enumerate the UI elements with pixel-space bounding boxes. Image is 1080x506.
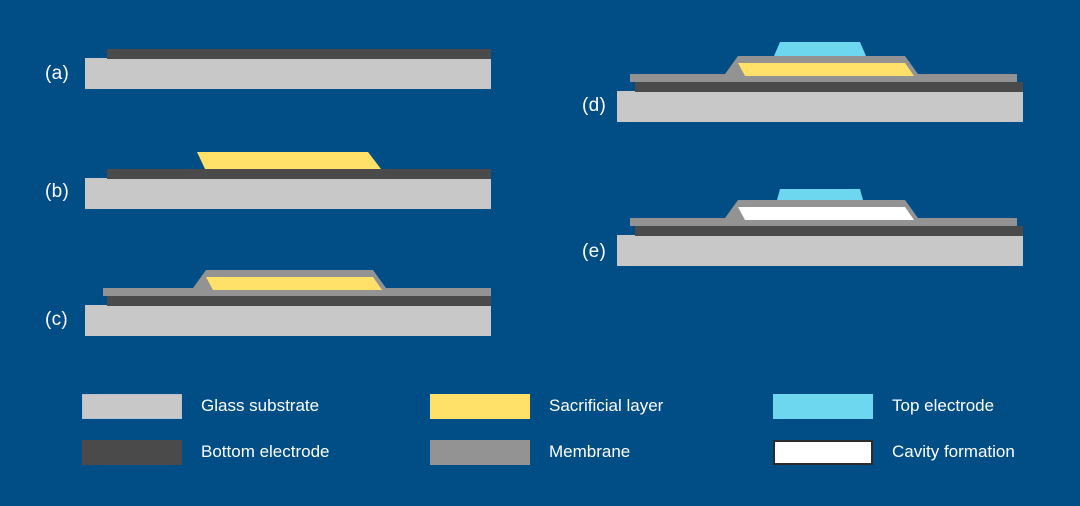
legend-item-sacrificial-layer: Sacrificial layer (430, 393, 663, 419)
sacrificial-layer (197, 152, 381, 169)
legend-item-glass-substrate: Glass substrate (82, 393, 319, 419)
panel-label-d: (d) (582, 95, 606, 117)
legend-label-bottom-electrode: Bottom electrode (201, 442, 330, 462)
top-electrode-layer (774, 42, 866, 56)
sacrificial-layer (738, 63, 914, 76)
process-flow-diagram: (a) (b) (c) (d) (e) (0, 0, 1080, 506)
top-electrode-swatch (773, 394, 873, 419)
panel-e-stack (617, 186, 1029, 266)
legend-item-cavity-formation: Cavity formation (773, 439, 1015, 465)
glass-substrate-layer (617, 91, 1023, 122)
membrane-swatch (430, 440, 530, 465)
bottom-electrode-swatch (82, 440, 182, 465)
panel-b-stack (85, 143, 495, 213)
panel-c-stack (85, 264, 495, 340)
cavity-formation-layer (738, 207, 914, 220)
legend-item-bottom-electrode: Bottom electrode (82, 439, 330, 465)
bottom-electrode-layer (635, 82, 1023, 92)
sacrificial-layer (206, 277, 382, 290)
legend-label-cavity-formation: Cavity formation (892, 442, 1015, 462)
legend: Glass substrate Bottom electrode Sacrifi… (0, 380, 1080, 480)
panel-label-b: (b) (45, 181, 69, 203)
bottom-electrode-layer (107, 49, 491, 59)
bottom-electrode-layer (107, 169, 491, 179)
cavity-formation-swatch (773, 440, 873, 465)
panel-label-c: (c) (45, 309, 68, 331)
sacrificial-layer-swatch (430, 394, 530, 419)
legend-item-top-electrode: Top electrode (773, 393, 994, 419)
panel-a-stack (85, 42, 495, 92)
bottom-electrode-layer (635, 226, 1023, 236)
legend-label-sacrificial-layer: Sacrificial layer (549, 396, 663, 416)
glass-substrate-layer (617, 235, 1023, 266)
legend-label-top-electrode: Top electrode (892, 396, 994, 416)
legend-item-membrane: Membrane (430, 439, 630, 465)
legend-label-glass-substrate: Glass substrate (201, 396, 319, 416)
glass-substrate-swatch (82, 394, 182, 419)
legend-label-membrane: Membrane (549, 442, 630, 462)
panel-d-stack (617, 36, 1029, 126)
bottom-electrode-layer (107, 296, 491, 306)
panel-label-a: (a) (45, 63, 69, 85)
top-electrode-layer (777, 189, 863, 200)
glass-substrate-layer (85, 58, 491, 89)
glass-substrate-layer (85, 178, 491, 209)
panel-label-e: (e) (582, 241, 606, 263)
glass-substrate-layer (85, 305, 491, 336)
